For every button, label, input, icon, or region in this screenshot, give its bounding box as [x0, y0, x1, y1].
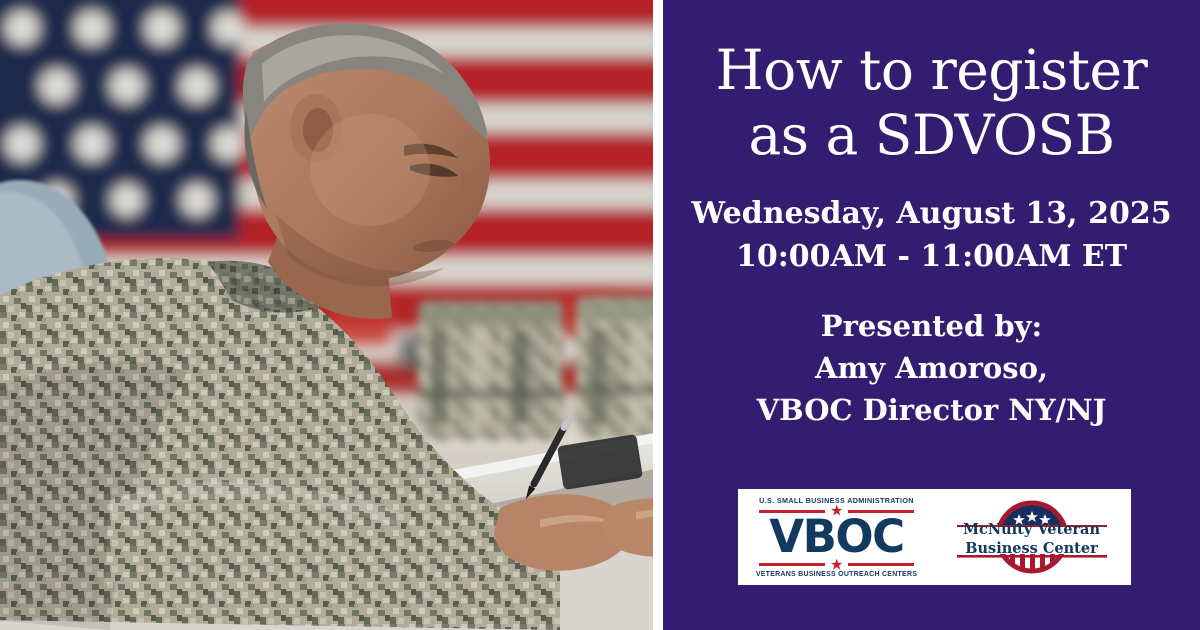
vboc-wordmark: VBOC	[769, 516, 903, 558]
vboc-rule-bottom: ★	[759, 561, 914, 569]
star-icon: ★	[830, 558, 843, 571]
presenter-title: VBOC Director NY/NJ	[663, 389, 1200, 431]
webinar-promo-graphic: How to register as a SDVOSB Wednesday, A…	[0, 0, 1200, 630]
event-datetime: Wednesday, August 13, 2025 10:00AM - 11:…	[663, 193, 1200, 279]
presenter-block: Presented by: Amy Amoroso, VBOC Director…	[663, 305, 1200, 431]
title-line-2: as a SDVOSB	[663, 103, 1200, 168]
vboc-logo: U.S. SMALL BUSINESS ADMINISTRATION ★ VBO…	[757, 496, 917, 577]
info-panel: How to register as a SDVOSB Wednesday, A…	[663, 0, 1200, 630]
title-line-1: How to register	[663, 38, 1200, 103]
mcnulty-wordmark: McNulty Veteran Business Center	[949, 520, 1115, 558]
mcnulty-line-2: Business Center	[949, 539, 1115, 558]
event-time: 10:00AM - 11:00AM ET	[663, 236, 1200, 279]
vboc-rule-left-bar	[759, 510, 825, 513]
event-date: Wednesday, August 13, 2025	[663, 193, 1200, 236]
mcnulty-line-1: McNulty Veteran	[949, 520, 1115, 539]
veteran-photo	[0, 0, 653, 630]
page-title: How to register as a SDVOSB	[663, 38, 1200, 168]
presenter-name: Amy Amoroso,	[663, 347, 1200, 389]
vboc-rule-top: ★	[759, 507, 914, 515]
vboc-rule-right-bar	[848, 510, 914, 513]
vboc-rule-right-bar	[848, 563, 914, 566]
presenter-label: Presented by:	[663, 305, 1200, 347]
star-icon: ★	[830, 505, 843, 518]
vboc-rule-left-bar	[759, 563, 825, 566]
mcnulty-logo: McNulty Veteran Business Center	[951, 494, 1113, 580]
logo-bar: U.S. SMALL BUSINESS ADMINISTRATION ★ VBO…	[738, 489, 1131, 585]
